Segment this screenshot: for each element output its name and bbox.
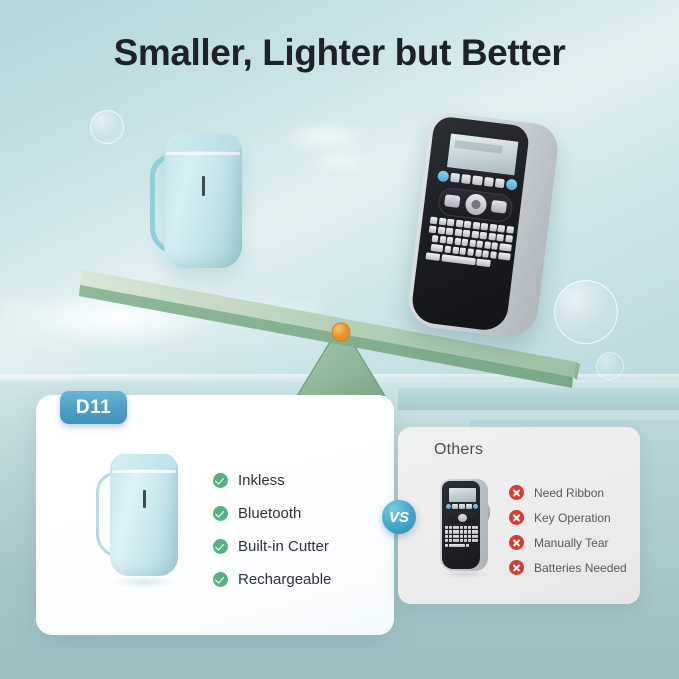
d11-badge: D11 — [60, 391, 127, 424]
others-navigation-pad — [448, 512, 477, 523]
print-button-icon — [506, 179, 518, 191]
others-card-title: Others — [434, 441, 483, 459]
d11-card-body — [110, 456, 178, 576]
d11-feature-list: Inkless Bluetooth Built-in Cutter Rechar… — [213, 464, 383, 596]
function-key — [472, 175, 482, 185]
others-feature-item: Key Operation — [509, 505, 639, 530]
others-keyboard — [445, 526, 480, 548]
d11-card-label-slot — [143, 490, 146, 508]
others-function-button-row — [446, 504, 478, 509]
d11-feature-label: Inkless — [238, 472, 285, 489]
power-button-icon — [437, 170, 449, 182]
keyboard-row — [445, 544, 480, 547]
d11-feature-label: Bluetooth — [238, 505, 301, 522]
d11-feature-item: Built-in Cutter — [213, 530, 383, 563]
keyboard-row — [445, 526, 480, 529]
function-key — [450, 173, 460, 183]
hero-d11-printer — [150, 130, 242, 268]
others-feature-item: Need Ribbon — [509, 480, 639, 505]
x-circle-icon — [509, 535, 524, 550]
others-feature-item: Manually Tear — [509, 530, 639, 555]
others-feature-item: Batteries Needed — [509, 555, 639, 580]
power-button-icon — [446, 504, 451, 509]
x-circle-icon — [509, 510, 524, 525]
product-comparison-banner: Smaller, Lighter but Better — [0, 0, 679, 679]
nav-right-key — [491, 200, 507, 214]
x-circle-icon — [509, 485, 524, 500]
d11-card-seam — [112, 470, 176, 473]
others-feature-label: Batteries Needed — [534, 561, 627, 575]
d11-feature-item: Bluetooth — [213, 497, 383, 530]
others-lcd-screen — [448, 487, 477, 503]
d11-feature-item: Rechargeable — [213, 563, 383, 596]
others-card-product-image — [440, 479, 488, 571]
product-reflection — [112, 576, 176, 588]
check-circle-icon — [213, 506, 228, 521]
check-circle-icon — [213, 473, 228, 488]
d11-feature-label: Built-in Cutter — [238, 538, 329, 555]
print-button-icon — [473, 504, 478, 509]
lcd-text-line — [454, 140, 503, 154]
hero-label-maker — [405, 111, 560, 340]
others-front-panel — [442, 481, 480, 569]
d11-card-top-cap — [112, 454, 176, 469]
d11-feature-label: Rechargeable — [238, 571, 331, 588]
function-key — [495, 178, 505, 188]
hero-d11-body — [164, 136, 242, 268]
others-feature-list: Need Ribbon Key Operation Manually Tear … — [509, 480, 639, 580]
keyboard-row — [445, 539, 480, 542]
hero-d11-top-cap — [166, 133, 240, 151]
nav-left-key — [444, 194, 460, 208]
check-circle-icon — [213, 539, 228, 554]
keyboard-row — [445, 530, 480, 533]
hero-d11-seam — [166, 152, 240, 155]
function-key — [461, 174, 471, 184]
d11-feature-item: Inkless — [213, 464, 383, 497]
seesaw-balance — [0, 96, 679, 396]
keyboard-row — [445, 535, 480, 538]
function-key — [483, 177, 493, 187]
label-maker-keyboard — [425, 217, 514, 272]
page-title: Smaller, Lighter but Better — [0, 32, 679, 74]
vs-badge: VS — [382, 500, 416, 534]
label-maker-lcd-screen — [445, 131, 521, 177]
function-key — [452, 504, 458, 509]
check-circle-icon — [213, 572, 228, 587]
dpad-ok-icon — [464, 193, 487, 216]
others-feature-label: Key Operation — [534, 511, 611, 525]
function-key — [466, 504, 472, 509]
d11-card-product-image — [96, 452, 178, 578]
hero-d11-label-slot — [202, 176, 205, 196]
x-circle-icon — [509, 560, 524, 575]
others-feature-label: Manually Tear — [534, 536, 608, 550]
function-key — [459, 504, 465, 509]
others-feature-label: Need Ribbon — [534, 486, 604, 500]
